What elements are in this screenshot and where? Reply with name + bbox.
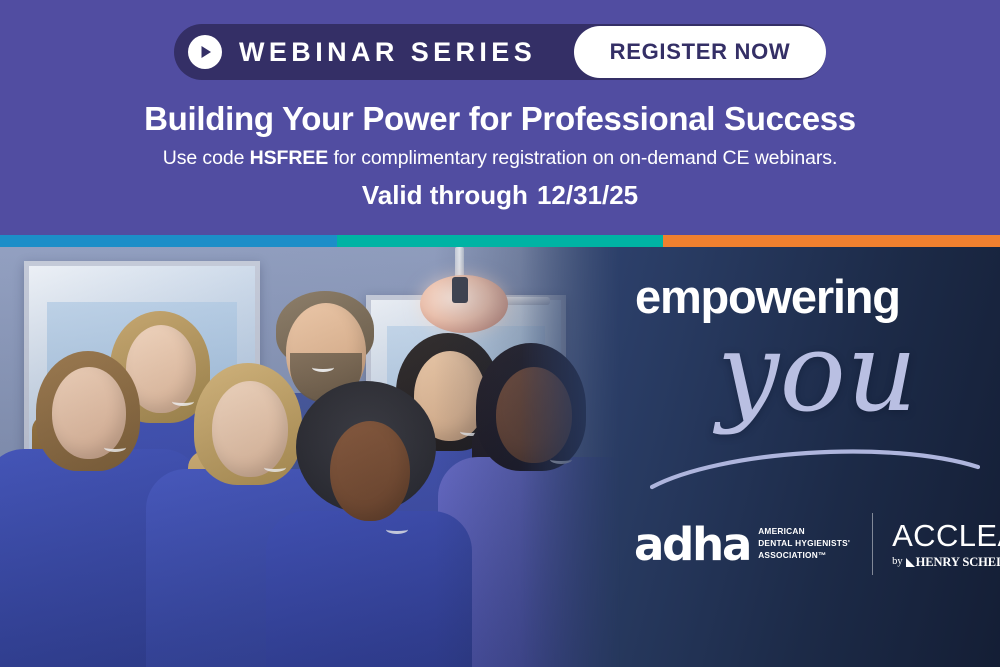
stripe-segment-blue xyxy=(0,235,337,247)
acclean-logo: ACCLEAN® by HENRY SCHEIN® xyxy=(892,520,1000,569)
dental-team-photo xyxy=(0,247,620,667)
adha-name-line-3: ASSOCIATION™ xyxy=(758,550,850,562)
adha-name-line-2: DENTAL HYGIENISTS' xyxy=(758,538,850,550)
promo-header: WEBINAR SERIES REGISTER NOW Building You… xyxy=(0,0,1000,235)
acclean-wordmark: ACCLEAN xyxy=(892,518,1000,553)
swoosh-decoration xyxy=(650,433,980,491)
photo-edge-shading xyxy=(0,247,620,667)
promo-code: HSFREE xyxy=(250,147,329,169)
promo-subtext: Use code HSFREE for complimentary regist… xyxy=(163,147,838,170)
acclean-wordmark-row: ACCLEAN® xyxy=(892,520,1000,551)
logo-divider xyxy=(872,513,873,575)
stripe-segment-orange xyxy=(663,235,1000,247)
webinar-promo-banner: WEBINAR SERIES REGISTER NOW Building You… xyxy=(0,0,1000,667)
promo-headline: Building Your Power for Professional Suc… xyxy=(144,100,856,138)
promo-subtext-suffix: for complimentary registration on on-dem… xyxy=(328,147,837,169)
register-now-button[interactable]: REGISTER NOW xyxy=(574,26,826,78)
hero-section: empowering you adha AMERICAN DENTAL HYGI… xyxy=(0,247,1000,667)
play-circle-icon xyxy=(188,35,222,69)
henry-schein-mark-icon xyxy=(906,558,915,567)
tagline-line-2: you xyxy=(717,317,918,427)
adha-wordmark: adha xyxy=(634,522,750,567)
promo-pill-row: WEBINAR SERIES REGISTER NOW xyxy=(174,24,826,80)
hero-text-panel: empowering you adha AMERICAN DENTAL HYGI… xyxy=(612,247,1000,667)
logo-row: adha AMERICAN DENTAL HYGIENISTS' ASSOCIA… xyxy=(634,509,984,579)
acclean-parent-brand: by HENRY SCHEIN® xyxy=(892,556,1000,569)
acclean-by-label: by xyxy=(892,557,903,568)
henry-schein-name: HENRY SCHEIN xyxy=(916,556,1000,569)
stripe-segment-teal xyxy=(337,235,663,247)
promo-subtext-prefix: Use code xyxy=(163,147,250,169)
adha-logo: adha AMERICAN DENTAL HYGIENISTS' ASSOCIA… xyxy=(634,522,850,567)
adha-name-line-1: AMERICAN xyxy=(758,526,850,538)
adha-full-name: AMERICAN DENTAL HYGIENISTS' ASSOCIATION™ xyxy=(758,526,850,561)
webinar-series-label: WEBINAR SERIES xyxy=(239,37,536,68)
promo-validity: Valid through12/31/25 xyxy=(362,180,638,211)
promo-valid-label: Valid through xyxy=(362,180,528,210)
promo-valid-date: 12/31/25 xyxy=(537,180,638,210)
accent-color-stripe xyxy=(0,235,1000,247)
